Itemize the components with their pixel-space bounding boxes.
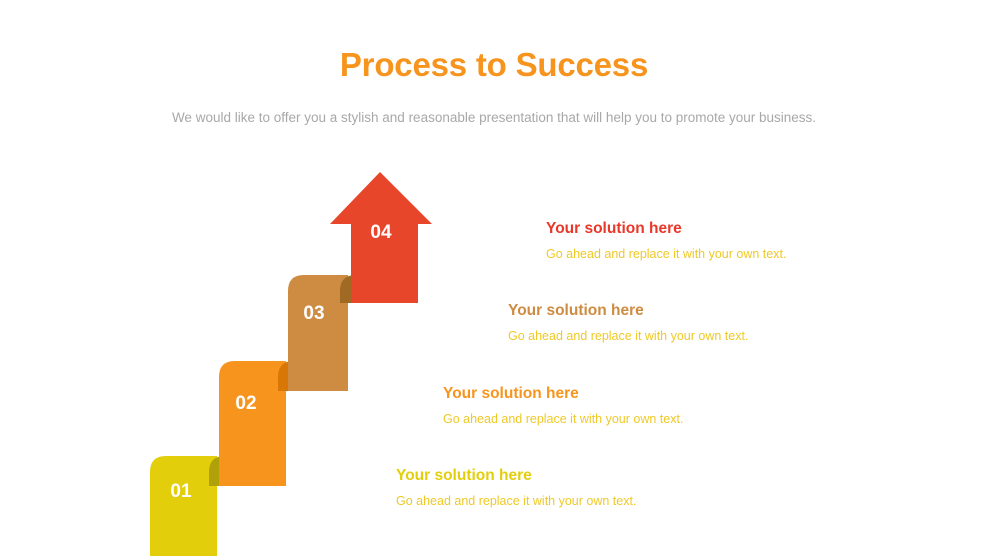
step-3-fold — [340, 275, 372, 303]
process-step-3[interactable] — [288, 275, 372, 391]
page-title: Process to Success — [0, 46, 988, 84]
solution-description: Go ahead and replace it with your own te… — [508, 327, 748, 345]
step-1-fold — [209, 456, 241, 486]
solution-block-4[interactable]: Your solution here Go ahead and replace … — [546, 219, 786, 263]
step-3-number: 03 — [303, 303, 324, 324]
solution-description: Go ahead and replace it with your own te… — [443, 410, 683, 428]
step-2-number: 02 — [235, 393, 256, 414]
solution-description: Go ahead and replace it with your own te… — [396, 492, 636, 510]
solution-block-1[interactable]: Your solution here Go ahead and replace … — [396, 466, 636, 510]
process-step-2[interactable] — [219, 361, 310, 486]
solution-block-2[interactable]: Your solution here Go ahead and replace … — [443, 384, 683, 428]
process-step-1[interactable] — [150, 456, 241, 556]
step-4-arrow-body — [330, 172, 432, 303]
solution-description: Go ahead and replace it with your own te… — [546, 245, 786, 263]
slide-canvas: Process to Success We would like to offe… — [0, 0, 988, 556]
step-1-body — [150, 456, 217, 556]
page-subtitle: We would like to offer you a stylish and… — [0, 110, 988, 125]
step-1-number: 01 — [170, 481, 192, 502]
step-2-body — [219, 361, 286, 486]
solution-heading: Your solution here — [443, 384, 683, 404]
solution-block-3[interactable]: Your solution here Go ahead and replace … — [508, 301, 748, 345]
step-3-body — [288, 275, 348, 391]
process-step-4[interactable] — [330, 172, 432, 303]
solution-heading: Your solution here — [546, 219, 786, 239]
solution-heading: Your solution here — [396, 466, 636, 486]
step-4-number: 04 — [370, 222, 392, 243]
step-2-fold — [278, 361, 310, 391]
solution-heading: Your solution here — [508, 301, 748, 321]
